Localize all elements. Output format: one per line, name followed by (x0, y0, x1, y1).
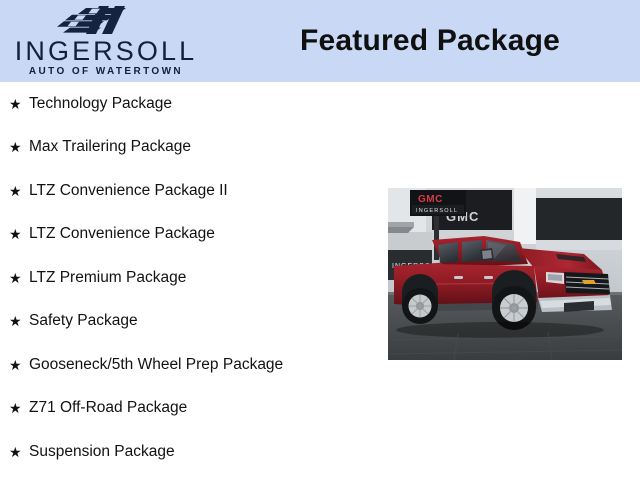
star-bullet-icon: ★ (9, 358, 29, 372)
package-label: Z71 Off-Road Package (29, 399, 187, 417)
star-bullet-icon: ★ (9, 140, 29, 154)
star-bullet-icon: ★ (9, 401, 29, 415)
list-item: ★ Technology Package (0, 82, 380, 126)
star-bullet-icon: ★ (9, 445, 29, 459)
package-label: Max Trailering Package (29, 138, 191, 156)
star-bullet-icon: ★ (9, 227, 29, 241)
dealer-brand-block[interactable]: INGERSOLL AUTO OF WATERTOWN (0, 0, 212, 82)
ingersoll-wing-logo-icon (52, 5, 148, 35)
package-label: LTZ Convenience Package II (29, 182, 228, 200)
list-item: ★ Z71 Off-Road Package (0, 387, 380, 431)
package-label: Suspension Package (29, 443, 175, 461)
dealer-brand-name: INGERSOLL (0, 36, 212, 66)
package-label: LTZ Convenience Package (29, 225, 215, 243)
star-bullet-icon: ★ (9, 314, 29, 328)
featured-package-list: ★ Technology Package ★ Max Trailering Pa… (0, 82, 380, 474)
list-item: ★ Max Trailering Package (0, 126, 380, 170)
star-bullet-icon: ★ (9, 184, 29, 198)
svg-text:INGERSOLL: INGERSOLL (416, 208, 458, 214)
page-title: Featured Package (230, 0, 630, 82)
list-item: ★ LTZ Convenience Package (0, 213, 380, 257)
star-bullet-icon: ★ (9, 97, 29, 111)
package-label: Gooseneck/5th Wheel Prep Package (29, 356, 283, 374)
list-item: ★ Gooseneck/5th Wheel Prep Package (0, 343, 380, 387)
list-item: ★ LTZ Convenience Package II (0, 169, 380, 213)
list-item: ★ Safety Package (0, 300, 380, 344)
package-label: Safety Package (29, 312, 138, 330)
package-label: LTZ Premium Package (29, 269, 186, 287)
package-label: Technology Package (29, 95, 172, 113)
svg-text:GMC: GMC (418, 194, 443, 205)
list-item: ★ LTZ Premium Package (0, 256, 380, 300)
list-item: ★ Suspension Package (0, 430, 380, 474)
dealer-brand-tagline: AUTO OF WATERTOWN (0, 66, 212, 78)
page-header: INGERSOLL AUTO OF WATERTOWN Featured Pac… (0, 0, 640, 82)
star-bullet-icon: ★ (9, 271, 29, 285)
vehicle-photo[interactable]: GMC GMC INGERSOLL INGERSO (388, 188, 622, 360)
